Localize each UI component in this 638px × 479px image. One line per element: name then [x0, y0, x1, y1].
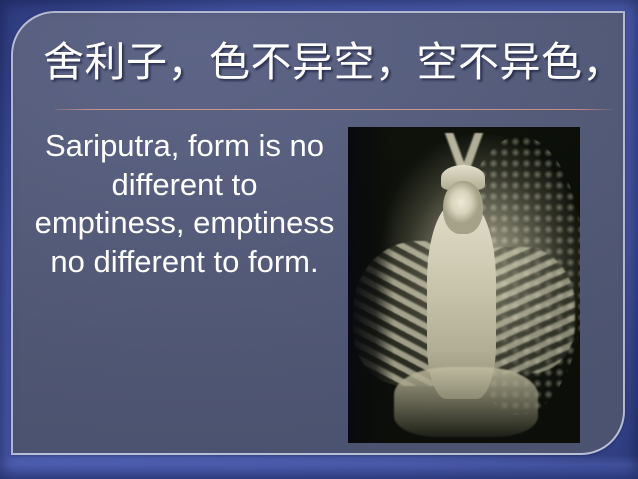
slide-body-row: Sariputra, form is no different to empti…: [13, 113, 623, 453]
presentation-slide: 舍利子，色不异空，空不异色， Sariputra, form is no dif…: [0, 0, 638, 479]
guanyin-statue-image: [348, 127, 580, 443]
slide-body-text: Sariputra, form is no different to empti…: [35, 113, 335, 281]
photo-left-shadow: [348, 127, 394, 443]
picture-column: [348, 113, 623, 443]
statue-head: [443, 181, 482, 235]
title-area: 舍利子，色不异空，空不异色，: [13, 13, 623, 105]
title-divider-rule: [55, 109, 613, 110]
body-text-column: Sariputra, form is no different to empti…: [13, 113, 348, 281]
slide-title: 舍利子，色不异空，空不异色，: [43, 39, 603, 85]
statue-lotus-base: [394, 367, 538, 437]
slide-content-panel: 舍利子，色不异空，空不异色， Sariputra, form is no dif…: [11, 11, 625, 455]
frame-bottom-highlight: [0, 455, 638, 479]
